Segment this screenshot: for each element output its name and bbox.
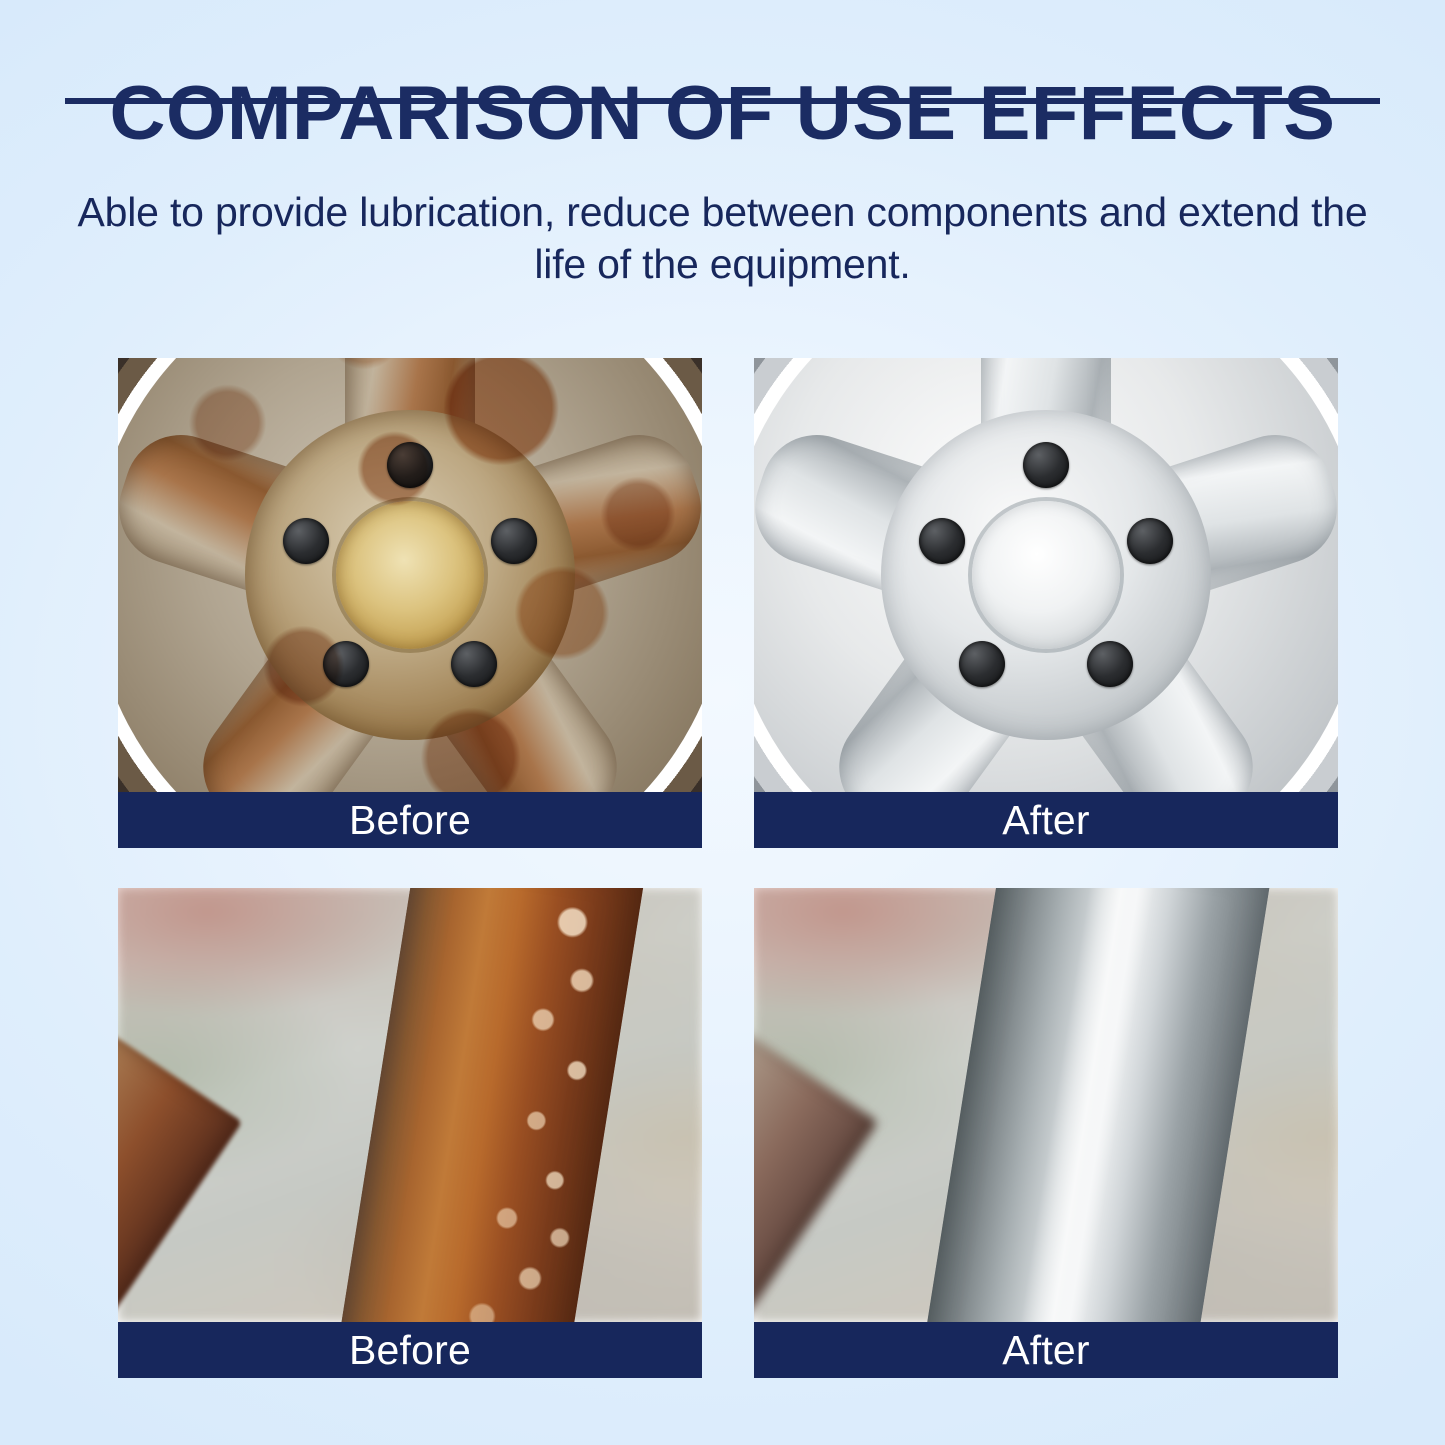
lug-nut — [451, 641, 497, 687]
comparison-infographic: COMPARISON OF USE EFFECTS Able to provid… — [0, 0, 1445, 1445]
comparison-panel-pipe-before: Before — [118, 888, 702, 1378]
rusty-wheel-image — [118, 358, 702, 792]
lug-nut — [323, 641, 369, 687]
rusty-pipe-image — [118, 888, 702, 1322]
page-subtitle: Able to provide lubrication, reduce betw… — [0, 156, 1445, 290]
label-before: Before — [118, 1322, 702, 1378]
header: COMPARISON OF USE EFFECTS Able to provid… — [0, 0, 1445, 290]
lug-nut — [283, 518, 329, 564]
comparison-panel-pipe-after: After — [754, 888, 1338, 1378]
wheel-center-cap — [336, 501, 484, 649]
title-divider — [65, 98, 1380, 104]
clean-wheel-image — [754, 358, 1338, 792]
lug-nut — [959, 641, 1005, 687]
lug-nut — [919, 518, 965, 564]
label-before: Before — [118, 792, 702, 848]
lug-nut — [387, 442, 433, 488]
lug-nut — [1023, 442, 1069, 488]
comparison-panel-wheel-after: After — [754, 358, 1338, 848]
lug-nut — [491, 518, 537, 564]
page-title: COMPARISON OF USE EFFECTS — [0, 72, 1445, 156]
photo-wheel-before — [118, 358, 702, 792]
wheel-graphic — [118, 358, 702, 792]
clean-pipe-image — [754, 888, 1338, 1322]
wheel-center-cap — [972, 501, 1120, 649]
photo-wheel-after — [754, 358, 1338, 792]
comparison-grid: Before — [118, 358, 1338, 1378]
photo-pipe-after — [754, 888, 1338, 1322]
photo-pipe-before — [118, 888, 702, 1322]
comparison-panel-wheel-before: Before — [118, 358, 702, 848]
label-after: After — [754, 792, 1338, 848]
wheel-graphic — [754, 358, 1338, 792]
label-after: After — [754, 1322, 1338, 1378]
lug-nut — [1127, 518, 1173, 564]
lug-nut — [1087, 641, 1133, 687]
